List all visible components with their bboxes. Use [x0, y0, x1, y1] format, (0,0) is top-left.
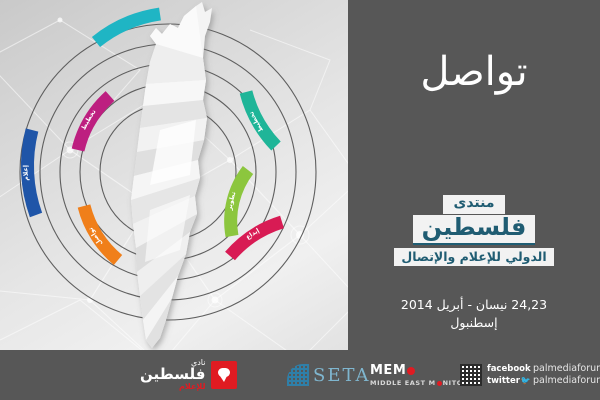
seta-label: SETA — [313, 365, 371, 386]
arc-top — [96, 14, 160, 42]
facebook-row[interactable]: facebook palmediaforum.org — [487, 363, 600, 375]
facebook-value: palmediaforum.org — [533, 363, 600, 375]
arc-magenta — [78, 96, 110, 150]
memo-title: MEM — [370, 363, 416, 378]
palestine-media-club-logo: نادي فلسطين للإعلام — [140, 350, 237, 400]
sponsor-footer: نادي فلسطين للإعلام SETA MEM MIDDLE EAST… — [0, 350, 600, 400]
artwork-panel: تخطيط إعلام تواصل تخطيط تطوير إبداع — [0, 0, 348, 350]
memo-subtitle: MIDDLE EAST MNITOR — [370, 379, 468, 387]
info-panel: تواصل منتدى فلسطين الدولي للإعلام والإتص… — [348, 0, 600, 350]
bird-icon: 🐦 — [521, 376, 531, 386]
arc-teal — [246, 92, 276, 146]
forum-logo: منتدى فلسطين الدولي للإعلام والإتصال — [348, 192, 600, 266]
event-date-location: 24,23 نيسان - أبريل 2014 إسطنبول — [348, 296, 600, 332]
speech-bubble-icon — [211, 361, 237, 389]
memo-dot-icon — [407, 367, 415, 375]
seta-logo: SETA — [287, 350, 371, 400]
seta-grid-icon — [287, 364, 309, 386]
twitter-row[interactable]: twitter🐦 palmediaforum — [487, 375, 600, 387]
memo-small-dot-icon — [437, 381, 442, 386]
forum-logo-line1: منتدى — [348, 192, 600, 214]
memo-logo: MEM MIDDLE EAST MNITOR — [370, 350, 468, 400]
twitter-value: palmediaforum — [533, 375, 600, 387]
arc-label-blue: إعلام — [22, 165, 30, 181]
event-poster: تخطيط إعلام تواصل تخطيط تطوير إبداع تواص… — [0, 0, 600, 400]
twitter-label: twitter🐦 — [487, 376, 533, 387]
event-date: 24,23 نيسان - أبريل 2014 — [348, 296, 600, 314]
facebook-label: facebook — [487, 364, 533, 375]
pmc-line3: للإعلام — [140, 383, 205, 391]
headline: تواصل — [348, 52, 600, 92]
arc-orange — [84, 206, 118, 260]
pmc-line2: فلسطين — [140, 367, 205, 383]
arc-crimson — [230, 222, 282, 256]
qr-code[interactable] — [460, 364, 482, 386]
arc-label-ring: تخطيط إعلام تواصل تخطيط تطوير إبداع — [0, 0, 348, 350]
social-block: facebook palmediaforum.org twitter🐦 palm… — [460, 350, 600, 400]
event-city: إسطنبول — [348, 314, 600, 332]
forum-logo-line2: فلسطين — [348, 215, 600, 245]
forum-logo-line3: الدولي للإعلام والإتصال — [348, 246, 600, 266]
